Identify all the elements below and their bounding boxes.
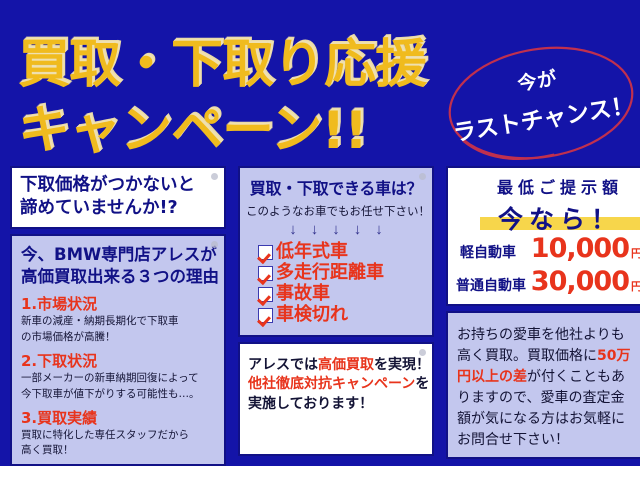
- list-item: 多走行距離車: [258, 264, 426, 283]
- price-amount: 30,000: [531, 266, 629, 297]
- statement-text: アレスでは: [248, 357, 318, 373]
- price-amount: 10,000: [531, 233, 629, 264]
- reasons-card: 今、BMW専門店アレスが 高価買取出来る３つの理由 1.市場状況 新車の減産・納…: [10, 234, 226, 466]
- price-category: 軽自動車: [456, 242, 531, 262]
- reason-item: 1.市場状況 新車の減産・納期長期化で下取車 の市場価格が高騰！: [21, 295, 216, 344]
- now-label-wrap: 今なら！: [456, 200, 640, 231]
- list-item-label: 事故車: [276, 285, 330, 304]
- statement-text: を実現！: [374, 357, 430, 373]
- decorative-dot-icon: [419, 173, 426, 180]
- note-line-6: お問合せ下さい！: [457, 430, 640, 451]
- campaign-statement-line-3: 実施しております！: [248, 395, 425, 415]
- list-item-label: 多走行距離車: [276, 264, 384, 283]
- right-column: 最低ご提示額 今なら！ 軽自動車 10,000 円以上 普通自動車 30,000…: [440, 160, 640, 466]
- note-line-3: 円以上の差が付くこともあ: [457, 367, 640, 388]
- headline-line-1: 買取・下取り応援: [18, 22, 426, 97]
- reason-body-line: 買取に特化した専任スタッフだから: [21, 428, 216, 442]
- statement-highlight: 高価買取: [318, 357, 374, 373]
- campaign-statement-line-1: アレスでは高価買取を実現！: [248, 356, 425, 376]
- down-arrow-icon: ↓: [289, 222, 297, 237]
- down-arrow-icon: ↓: [311, 222, 319, 237]
- reasons-heading-line-2: 高価買取出来る３つの理由: [21, 266, 216, 287]
- checkmark-icon: [258, 308, 273, 323]
- note-text: が付くこともあ: [527, 369, 625, 385]
- price-unit: 円以上: [631, 245, 640, 261]
- arrow-row: ↓ ↓ ↓ ↓ ↓: [246, 222, 426, 237]
- decorative-dot-icon: [419, 349, 426, 356]
- note-line-5: 額が気になる方はお気軽に: [457, 409, 640, 430]
- campaign-banner: 買取・下取り応援 キャンペーン!! 今が ラストチャンス！ 下取価格がつかないと…: [0, 0, 640, 480]
- reason-item: 3.買取実績 買取に特化した専任スタッフだから 高く買取！: [21, 409, 216, 458]
- checkmark-icon: [258, 287, 273, 302]
- reason-body-line: 今下取車が値下がりする可能性も…。: [21, 387, 216, 401]
- note-text: 高く買取。買取価格に: [457, 348, 597, 364]
- last-chance-badge: 今が ラストチャンス！: [438, 30, 640, 176]
- list-item-label: 低年式車: [276, 243, 348, 262]
- checkmark-icon: [258, 245, 273, 260]
- reasons-heading-line-1: 今、BMW専門店アレスが: [21, 244, 216, 265]
- eligible-cars-title: 買取・下取できる車は？: [246, 175, 426, 199]
- reason-item: 2.下取状況 一部メーカーの新車納期回復によって 今下取車が値下がりする可能性も…: [21, 352, 216, 401]
- note-highlight: 円以上の差: [457, 369, 527, 385]
- eligible-cars-subtitle: このようなお車でもお任せ下さい！: [246, 203, 426, 219]
- minimum-offer-card: 最低ご提示額 今なら！ 軽自動車 10,000 円以上 普通自動車 30,000…: [446, 166, 640, 306]
- note-line-4: りますので、愛車の査定金: [457, 388, 640, 409]
- list-item: 事故車: [258, 285, 426, 304]
- banner-header: 買取・下取り応援 キャンペーン!! 今が ラストチャンス！: [0, 0, 640, 160]
- price-category: 普通自動車: [456, 275, 531, 295]
- middle-column: 買取・下取できる車は？ このようなお車でもお任せ下さい！ ↓ ↓ ↓ ↓ ↓ 低…: [232, 160, 440, 466]
- reason-title: 3.買取実績: [21, 409, 216, 427]
- question-line-1: 下取価格がつかないと: [20, 174, 217, 197]
- reason-title: 2.下取状況: [21, 352, 216, 370]
- down-arrow-icon: ↓: [354, 222, 362, 237]
- checkmark-icon: [258, 266, 273, 281]
- eligible-cars-list: 低年式車 多走行距離車 事故車 車検切れ: [246, 243, 426, 325]
- panel-grid: 下取価格がつかないと 諦めていませんか!? 今、BMW専門店アレスが 高価買取出…: [0, 160, 640, 466]
- campaign-statement-card: アレスでは高価買取を実現！ 他社徹底対抗キャンペーンを 実施しております！: [238, 342, 434, 456]
- question-line-2: 諦めていませんか!?: [20, 197, 217, 220]
- appraisal-note-card: お持ちの愛車を他社よりも 高く買取。買取価格に50万 円以上の差が付くこともあ …: [446, 311, 640, 459]
- price-row: 普通自動車 30,000 円以上: [456, 266, 640, 297]
- now-label: 今なら！: [498, 205, 622, 234]
- list-item: 車検切れ: [258, 306, 426, 325]
- down-arrow-icon: ↓: [375, 222, 383, 237]
- price-unit: 円以上: [631, 278, 640, 294]
- eligible-cars-card: 買取・下取できる車は？ このようなお車でもお任せ下さい！ ↓ ↓ ↓ ↓ ↓ 低…: [238, 166, 434, 337]
- down-arrow-icon: ↓: [332, 222, 340, 237]
- statement-text: を: [415, 376, 429, 392]
- statement-highlight: 他社徹底対抗キャンペーン: [248, 376, 415, 392]
- left-column: 下取価格がつかないと 諦めていませんか!? 今、BMW専門店アレスが 高価買取出…: [0, 160, 232, 466]
- decorative-dot-icon: [211, 173, 218, 180]
- note-highlight: 50万: [597, 348, 630, 364]
- campaign-statement-line-2: 他社徹底対抗キャンペーンを: [248, 375, 425, 395]
- reason-body-line: 一部メーカーの新車納期回復によって: [21, 371, 216, 385]
- headline-line-2: キャンペーン!!: [18, 88, 367, 163]
- list-item: 低年式車: [258, 243, 426, 262]
- list-item-label: 車検切れ: [276, 306, 348, 325]
- price-row: 軽自動車 10,000 円以上: [456, 233, 640, 264]
- reason-body-line: の市場価格が高騰！: [21, 330, 216, 344]
- note-line-1: お持ちの愛車を他社よりも: [457, 325, 640, 346]
- reason-body-line: 高く買取！: [21, 443, 216, 457]
- minimum-offer-title: 最低ご提示額: [456, 174, 640, 198]
- reason-title: 1.市場状況: [21, 295, 216, 313]
- note-line-2: 高く買取。買取価格に50万: [457, 346, 640, 367]
- question-card: 下取価格がつかないと 諦めていませんか!?: [10, 166, 226, 229]
- reason-body-line: 新車の減産・納期長期化で下取車: [21, 314, 216, 328]
